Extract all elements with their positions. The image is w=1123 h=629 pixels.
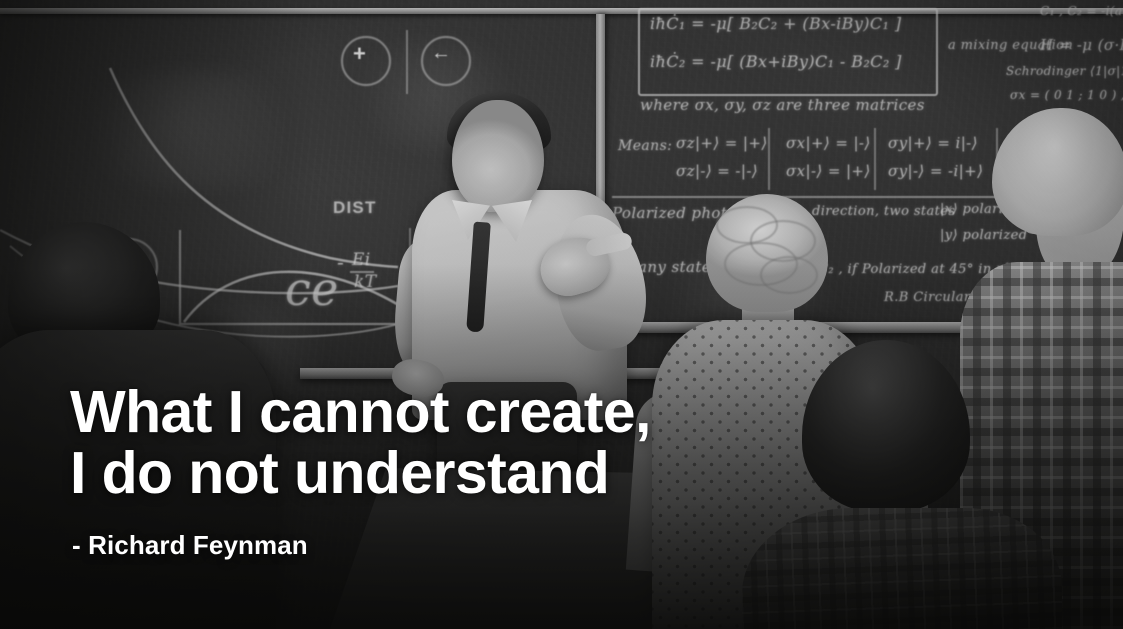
quote-text: What I cannot create, I do not understan… — [70, 382, 770, 504]
quote-block: What I cannot create, I do not understan… — [70, 382, 770, 560]
feynman-quote-card: + ← DIST ce - Ei kT + + iħĊ₁ = -μ[ B₂C₂ … — [0, 0, 1123, 629]
quote-attribution: - Richard Feynman — [72, 530, 770, 560]
